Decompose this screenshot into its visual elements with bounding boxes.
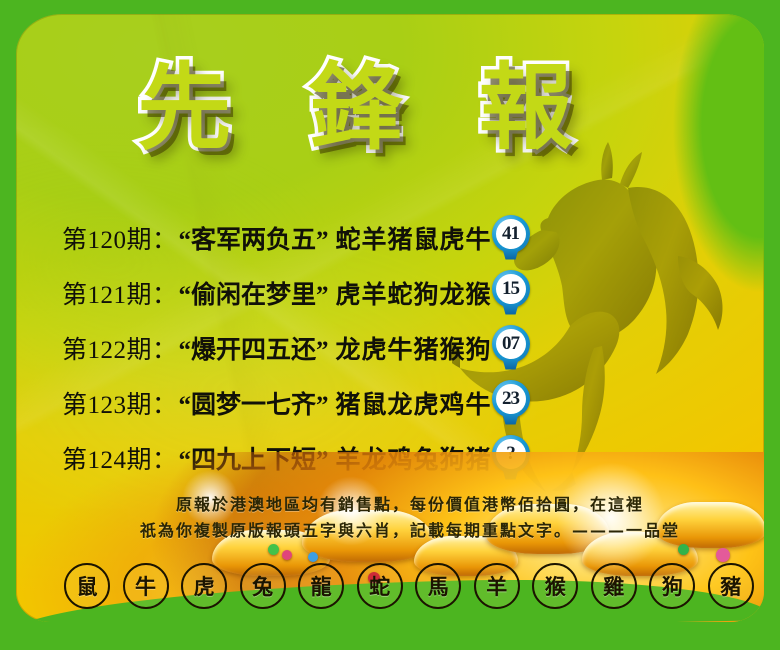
result-row: 第122期： “爆开四五还” 龙虎牛猪猴狗 07 [62,320,582,375]
result-issue: 第124期： [62,440,178,476]
zodiac-rat: 鼠 [64,563,110,609]
lottery-ball-unknown: ? [490,435,532,481]
gem [716,548,730,562]
result-zodiac: 羊龙鸡兔狗猪 [336,440,492,476]
result-row: 第121期： “偷闲在梦里” 虎羊蛇狗龙猴 15 [62,265,582,320]
result-row: 第124期： “四九上下短” 羊龙鸡兔狗猪 ? [62,430,582,485]
result-zodiac: 虎羊蛇狗龙猴 [336,275,492,311]
result-row: 第120期： “客军两负五” 蛇羊猪鼠虎牛 41 [62,210,582,265]
zodiac-dragon: 龍 [298,563,344,609]
gem [678,544,689,555]
poster-panel: 先 鋒 報 第120期： “客军两负五” 蛇羊猪鼠虎牛 41 第121期： “偷… [16,14,764,622]
ball-number: 23 [496,384,526,414]
zodiac-pig: 豬 [708,563,754,609]
notice-text: 原報於港澳地區均有銷售點，每份價值港幣佰拾圓，在這裡 祇為你複製原版報頭五字與六… [80,492,740,544]
ball-number: 41 [496,219,526,249]
gem [282,550,292,560]
lottery-ball: 41 [490,215,532,261]
zodiac-horse: 馬 [415,563,461,609]
notice-line-2: 祇為你複製原版報頭五字與六肖，記載每期重點文字。———一品堂 [80,518,740,544]
ball-number: 07 [496,329,526,359]
result-phrase: “偷闲在梦里” [179,275,329,311]
result-row: 第123期： “圆梦一七齐” 猪鼠龙虎鸡牛 23 [62,375,582,430]
ball-number: 15 [496,274,526,304]
result-zodiac: 龙虎牛猪猴狗 [336,330,492,366]
zodiac-monkey: 猴 [532,563,578,609]
title-block: 先 鋒 報 [16,60,716,159]
zodiac-row: 鼠 牛 虎 兔 龍 蛇 馬 羊 猴 雞 狗 豬 [64,563,754,609]
page-title: 先 鋒 報 [137,60,594,159]
zodiac-snake: 蛇 [357,563,403,609]
gem [308,552,318,562]
zodiac-goat: 羊 [474,563,520,609]
result-phrase: “四九上下短” [179,440,329,476]
zodiac-tiger: 虎 [181,563,227,609]
zodiac-ox: 牛 [123,563,169,609]
zodiac-rooster: 雞 [591,563,637,609]
result-issue: 第123期： [62,385,178,421]
lottery-ball: 15 [490,270,532,316]
zodiac-rabbit: 兔 [240,563,286,609]
result-phrase: “圆梦一七齐” [179,385,329,421]
result-phrase: “爆开四五还” [179,330,329,366]
result-issue: 第122期： [62,330,178,366]
results-list: 第120期： “客军两负五” 蛇羊猪鼠虎牛 41 第121期： “偷闲在梦里” … [62,210,582,485]
gem [268,544,279,555]
result-zodiac: 猪鼠龙虎鸡牛 [336,385,492,421]
result-issue: 第121期： [62,275,178,311]
lottery-ball: 07 [490,325,532,371]
result-zodiac: 蛇羊猪鼠虎牛 [336,220,492,256]
poster-root: 先 鋒 報 第120期： “客军两负五” 蛇羊猪鼠虎牛 41 第121期： “偷… [0,0,780,650]
zodiac-dog: 狗 [649,563,695,609]
lottery-ball: 23 [490,380,532,426]
result-phrase: “客军两负五” [179,220,329,256]
ball-number: ? [496,439,526,469]
notice-line-1: 原報於港澳地區均有銷售點，每份價值港幣佰拾圓，在這裡 [80,492,740,518]
result-issue: 第120期： [62,220,178,256]
